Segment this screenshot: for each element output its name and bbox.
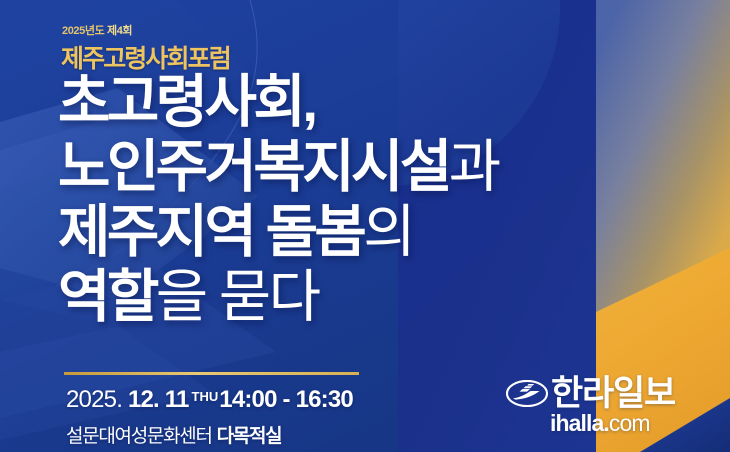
logo-domain-tld: com (609, 410, 650, 436)
logo-wordmark-row: 한라일보 (506, 376, 702, 410)
logo-domain: ihalla.com (506, 412, 702, 435)
halla-ilbo-wave-emblem (506, 380, 548, 407)
headline-line-2-light: 과 (449, 135, 499, 199)
event-poster: 2025년도 제4회 제주고령사회포럼 초고령사회, 노인주거복지시설과 제주지… (0, 0, 730, 452)
gold-divider (64, 372, 359, 375)
datetime-date: 12. 11 (128, 386, 189, 413)
headline-line-2-bold: 노인주거복지시설 (58, 135, 449, 199)
datetime-year: 2025. (66, 386, 128, 413)
headline-line-3: 제주지역 돌봄의 (58, 204, 618, 261)
headline-line-1: 초고령사회, (58, 74, 618, 131)
headline-line-4: 역할을 묻다 (58, 269, 618, 326)
datetime-day-of-week: THU (192, 389, 219, 404)
headline-block: 초고령사회, 노인주거복지시설과 제주지역 돌봄의 역할을 묻다 (58, 74, 618, 334)
kicker-edition: 제4회 (107, 25, 132, 37)
headline-line-3-light: 의 (363, 200, 413, 264)
kicker-year: 2025년도 (62, 25, 107, 37)
poster-content: 2025년도 제4회 제주고령사회포럼 초고령사회, 노인주거복지시설과 제주지… (0, 0, 730, 452)
event-venue: 설문대여성문화센터다목적실 (66, 421, 281, 448)
headline-line-4-light: 을 묻다 (156, 265, 319, 329)
headline-line-4-bold: 역할 (58, 265, 156, 329)
kicker-line: 2025년도 제4회 (62, 22, 132, 38)
datetime-time: 14:00 - 16:30 (219, 386, 353, 413)
halla-ilbo-logo: 한라일보 ihalla.com (506, 376, 702, 438)
venue-room: 다목적실 (217, 426, 282, 447)
headline-line-3-bold: 제주지역 돌봄 (58, 200, 363, 264)
logo-domain-main: ihalla (550, 410, 603, 436)
headline-line-2: 노인주거복지시설과 (58, 139, 618, 196)
event-datetime: 2025. 12. 11THU14:00 - 16:30 (66, 386, 353, 414)
logo-wordmark: 한라일보 (551, 376, 675, 411)
venue-place: 설문대여성문화센터 (66, 426, 212, 447)
headline-line-1-bold: 초고령사회, (58, 70, 314, 134)
